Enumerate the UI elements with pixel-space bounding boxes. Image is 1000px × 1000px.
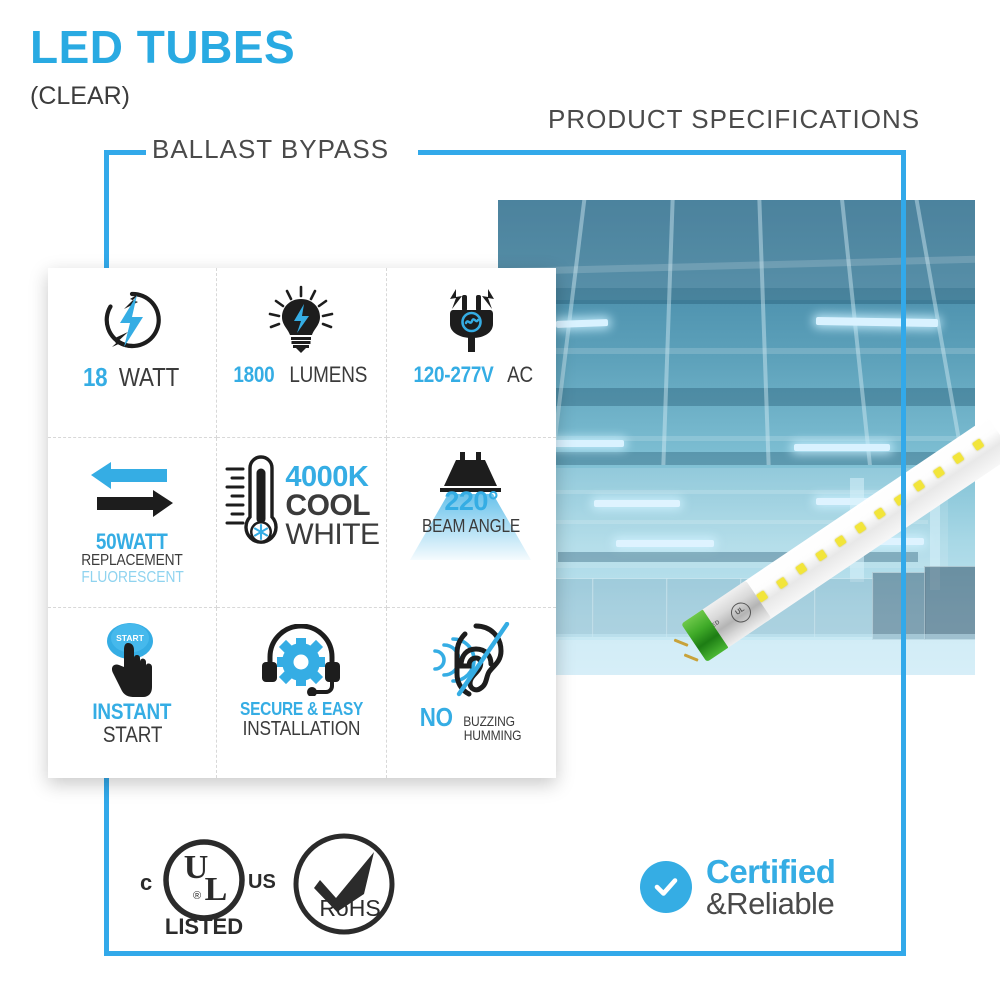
headset-gear-support-icon (258, 622, 344, 698)
spec-cell-replacement: 50WATT REPLACEMENT FLUORESCENT (48, 438, 217, 608)
certified-text-block: Certified &Reliable (706, 855, 835, 919)
ul-listed-badge: c U L ® US LISTED c UL US LISTED (130, 830, 290, 940)
spec-line2: REPLACEMENT (81, 553, 182, 570)
page-title: LED TUBES (30, 24, 295, 70)
frame-border-top-right (418, 150, 906, 155)
spec-caption-lumens: 1800 LUMENS (230, 362, 373, 388)
certified-line1: Certified (706, 855, 835, 888)
spec-line3: HUMMING (464, 728, 522, 742)
power-cycle-bolt-icon (97, 282, 167, 358)
svg-text:LISTED: LISTED (165, 914, 243, 939)
tube-ul-mark-icon: UL (727, 599, 755, 627)
spec-cell-instant-start: START INSTANT START (48, 608, 217, 778)
spec-unit: WATT (119, 362, 179, 393)
spec-line3: WHITE (285, 521, 379, 550)
spec-caption-instant-start: INSTANT START (86, 700, 178, 746)
svg-text:®: ® (193, 890, 201, 902)
spec-cell-wattage: 18 WATT (48, 268, 217, 438)
check-circle-icon (640, 861, 692, 913)
spec-cell-lumens: 1800 LUMENS (217, 268, 386, 438)
frame-border-top-left (104, 150, 152, 155)
spec-cell-installation: SECURE & EASY INSTALLATION (217, 608, 386, 778)
tube-pin (674, 638, 689, 646)
spec-value: SECURE & EASY (240, 700, 363, 719)
spec-cell-color-temperature: 4000K COOL WHITE (217, 438, 386, 608)
spec-caption-no-noise: NO BUZZING HUMMING (417, 702, 526, 743)
hand-press-start-button-icon: START (95, 622, 169, 698)
spec-unit: LUMENS (289, 362, 367, 388)
swap-arrows-icon (89, 452, 175, 528)
spec-line3: FLUORESCENT (81, 570, 183, 587)
spec-value: INSTANT (93, 700, 172, 723)
spec-value: 4000K (285, 464, 368, 492)
infographic-canvas: LED TUBES (CLEAR) (0, 0, 1000, 1000)
ear-no-sound-icon (429, 622, 513, 698)
page-subtitle: (CLEAR) (30, 84, 130, 109)
spec-caption-voltage: 120-277V AC (407, 362, 535, 388)
spec-line2: COOL (285, 492, 370, 521)
spec-unit: AC (507, 362, 533, 388)
beam-spread-icon: 220° BEAM ANGLE (396, 448, 546, 568)
ballast-bypass-label: BALLAST BYPASS (146, 136, 395, 163)
frame-border-bottom (104, 951, 906, 956)
product-specifications-label: PRODUCT SPECIFICATIONS (548, 106, 920, 133)
spec-caption-installation: SECURE & EASY INSTALLATION (230, 700, 373, 740)
spec-unit: BEAM ANGLE (422, 516, 520, 537)
svg-text:c: c (140, 870, 152, 895)
certified-line2: &Reliable (706, 888, 835, 919)
svg-text:RoHS: RoHS (319, 895, 380, 921)
specifications-grid: 18 WATT (48, 268, 556, 778)
tube-pin (684, 653, 699, 661)
spec-value: 50WATT (96, 530, 168, 553)
light-bulb-bolt-icon (266, 282, 336, 358)
spec-line2: START (102, 723, 161, 746)
spec-value: NO (419, 702, 452, 733)
spec-caption-wattage: 18 WATT (81, 362, 184, 393)
frame-border-right (901, 150, 906, 956)
svg-text:L: L (205, 871, 228, 908)
spec-cell-beam-angle: 220° BEAM ANGLE (387, 438, 556, 608)
spec-value: 120-277V (414, 362, 494, 388)
spec-value: 1800 (233, 362, 274, 388)
power-plug-icon (436, 282, 506, 358)
spec-line2: BUZZING (463, 714, 515, 728)
spec-caption-replacement: 50WATT REPLACEMENT FLUORESCENT (73, 530, 192, 587)
svg-text:START: START (116, 633, 145, 643)
spec-value: 220° (444, 486, 498, 516)
led-tube-product-image: LED UL (676, 470, 1000, 780)
svg-text:US: US (248, 871, 276, 893)
spec-line2: INSTALLATION (243, 719, 361, 740)
specifications-card: 18 WATT (48, 268, 556, 778)
spec-value: 18 (82, 362, 106, 393)
certified-reliable-badge: Certified &Reliable (640, 855, 835, 919)
spec-cell-voltage: 120-277V AC (387, 268, 556, 438)
spec-cell-no-noise: NO BUZZING HUMMING (387, 608, 556, 778)
thermometer-snowflake-icon (223, 449, 281, 566)
rohs-badge: RoHS RoHS (292, 832, 396, 936)
